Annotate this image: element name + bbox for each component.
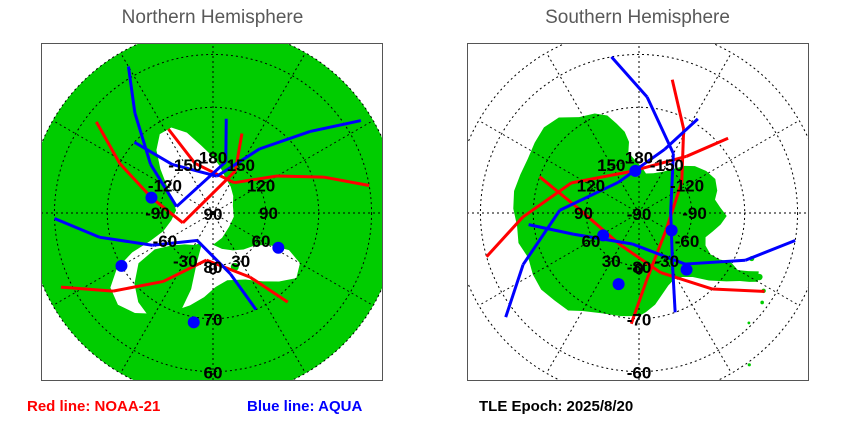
svg-text:-120: -120 (148, 176, 182, 195)
svg-text:0: 0 (208, 260, 217, 279)
svg-text:30: 30 (231, 252, 250, 271)
svg-text:-150: -150 (650, 156, 684, 175)
polar-map-northern: 908070600306090120150180-150-120-90-60-3… (42, 44, 382, 380)
plot-frame-southern: -90-80-70-600306090120150180-150-120-90-… (467, 43, 809, 381)
svg-text:30: 30 (602, 252, 621, 271)
svg-text:-30: -30 (654, 252, 679, 271)
legend-red-line: Red line: NOAA-21 (27, 398, 160, 415)
svg-text:180: 180 (199, 149, 227, 168)
svg-text:120: 120 (577, 176, 605, 195)
panel-northern-hemisphere: Northern Hemisphere 90807060030609012015… (0, 0, 425, 425)
svg-text:60: 60 (252, 232, 271, 251)
svg-text:-90: -90 (627, 205, 652, 224)
svg-text:-60: -60 (675, 232, 700, 251)
svg-text:-150: -150 (168, 156, 202, 175)
svg-text:90: 90 (574, 204, 593, 223)
plot-frame-northern: 908070600306090120150180-150-120-90-60-3… (41, 43, 383, 381)
svg-text:60: 60 (204, 364, 223, 380)
figure-root: Northern Hemisphere 90807060030609012015… (0, 0, 850, 425)
svg-text:0: 0 (634, 260, 643, 279)
svg-text:150: 150 (227, 156, 255, 175)
svg-text:-60: -60 (153, 232, 178, 251)
svg-text:-90: -90 (682, 204, 707, 223)
legend-tle-epoch: TLE Epoch: 2025/8/20 (479, 398, 633, 415)
legend-blue-line: Blue line: AQUA (247, 398, 362, 415)
svg-text:120: 120 (247, 176, 275, 195)
polar-map-southern: -90-80-70-600306090120150180-150-120-90-… (468, 44, 808, 380)
svg-text:-60: -60 (627, 364, 652, 380)
panel-title-southern: Southern Hemisphere (425, 7, 850, 29)
svg-text:-120: -120 (670, 176, 704, 195)
panel-title-northern: Northern Hemisphere (0, 7, 425, 29)
svg-text:90: 90 (204, 205, 223, 224)
svg-text:-30: -30 (173, 252, 198, 271)
panel-southern-hemisphere: Southern Hemisphere -90-80-70-6003060901… (425, 0, 850, 425)
svg-text:-90: -90 (145, 204, 170, 223)
svg-text:150: 150 (597, 156, 625, 175)
svg-text:60: 60 (581, 232, 600, 251)
svg-text:90: 90 (259, 204, 278, 223)
svg-text:-70: -70 (627, 311, 652, 330)
svg-text:70: 70 (204, 311, 223, 330)
